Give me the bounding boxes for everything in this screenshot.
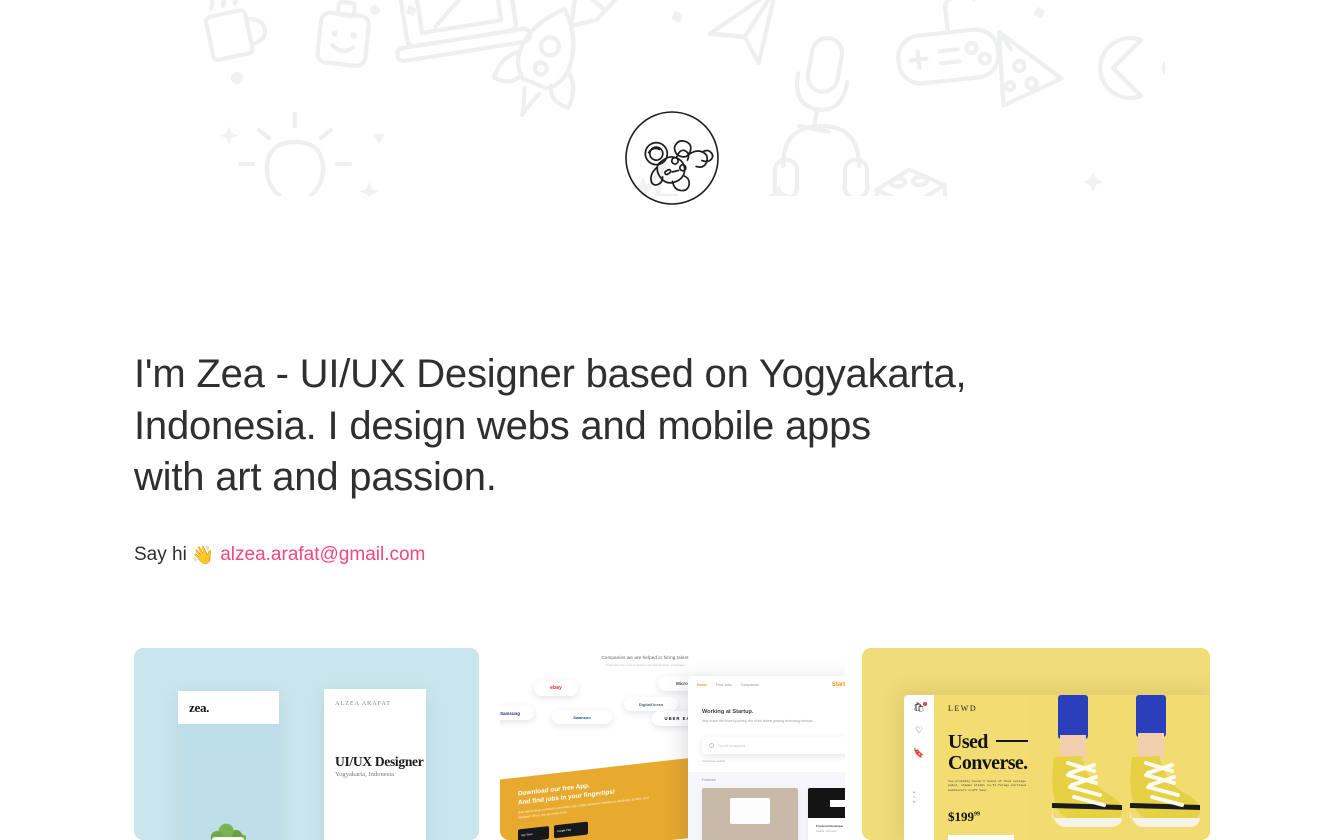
browser-hero-title: Working at Startup. [702, 709, 754, 715]
cart-icon[interactable]: 🛍 [913, 703, 924, 712]
contact-line: Say hi 👋 alzea.arafat@gmail.com [134, 542, 425, 568]
jobs-browser-window: Home Find Jobs Companies Startupjobs Sig… [688, 676, 845, 840]
browser-hero-body: Help shape the future by joining one of … [702, 719, 832, 724]
page-title: I'm Zea - UI/UX Designer based on Yogyak… [134, 349, 1134, 504]
brand-mark: zea. [189, 700, 209, 716]
job-search-bar[interactable]: Try role or keyword Search [702, 737, 845, 754]
featured-section: Featured Up to 10 Companies Frontend Dev… [688, 772, 845, 840]
brand-name-part1: Startup [832, 681, 845, 688]
add-to-cart-button[interactable]: ADD TO CART [948, 835, 1014, 840]
email-link[interactable]: alzea.arafat@gmail.com [220, 542, 425, 568]
project-card-used-converse[interactable]: 🛍 ♡ 🔖 1 / 4 LEWD Used Converse. You prob… [862, 648, 1210, 840]
browser-nav: Home Find Jobs Companies [688, 676, 845, 693]
card-name-label: ALZEA ARAFAT [335, 700, 391, 707]
featured-card-2[interactable]: Frontend Developer Jakarta, Indonesia [808, 788, 845, 840]
converse-shop-mockup: 🛍 ♡ 🔖 1 / 4 LEWD Used Converse. You prob… [904, 695, 1210, 840]
headline-text: I'm Zea - UI/UX Designer based on Yogyak… [134, 352, 966, 499]
product-price: $19999 [948, 809, 980, 825]
browser-brand-logo: Startupjobs [832, 681, 845, 688]
shop-brand-logo: LEWD [948, 704, 977, 713]
featured-card-1[interactable]: Up to 10 Companies [702, 788, 798, 840]
product-title-line1: Used [948, 731, 988, 753]
bookmark-icon[interactable]: 🔖 [913, 749, 924, 758]
companies-heading: Companies we are helped in hiring talent [540, 655, 750, 660]
hero-content: I'm Zea - UI/UX Designer based on Yogyak… [134, 0, 1210, 840]
project-card-startup-jobs[interactable]: Companies we are helped in hiring talent… [500, 648, 845, 840]
advanced-search-link[interactable]: Advanced search [702, 759, 725, 763]
search-input[interactable]: Try role or keyword [718, 744, 745, 748]
companies-subheading: Trusted by the most innovative and fast … [560, 663, 730, 667]
waving-hand-icon: 👋 [192, 546, 214, 564]
pager-label: 1 / 4 [912, 791, 917, 804]
product-description: You probably haven't heard of them selva… [948, 779, 1026, 792]
featured-card-2-title: Frontend Developer [816, 824, 843, 828]
nav-item-companies[interactable]: Companies [741, 683, 759, 687]
search-icon [709, 743, 714, 748]
side-rail: 🛍 ♡ 🔖 1 / 4 [904, 695, 934, 840]
card-role-title: UI/UX Designer [335, 754, 423, 770]
app-store-badge[interactable]: App Store [518, 826, 549, 840]
project-cards-row: zea. ALZEA ARAFAT UI/UX Designer Yogyaka… [134, 648, 1210, 840]
card-location-subtitle: Yogyakarta, Indonesia [335, 771, 394, 778]
company-logo-samsung: Samsung [500, 706, 534, 720]
featured-card-2-sub: Jakarta, Indonesia [816, 830, 836, 833]
nav-item-home[interactable]: Home [697, 683, 707, 687]
title-rule-divider [996, 740, 1030, 742]
google-play-badge-label: Google Play [557, 828, 571, 833]
cart-badge-dot [923, 702, 927, 706]
company-logo-swanson: Swanson [552, 710, 612, 724]
product-title-line2: Converse. [948, 752, 1028, 774]
sneakers-photo [1028, 695, 1210, 840]
app-store-badge-label: App Store [521, 833, 533, 838]
plant-illustration [204, 821, 252, 840]
portfolio-landing-page: I'm Zea - UI/UX Designer based on Yogyak… [0, 0, 1344, 840]
price-cents: 99 [974, 812, 980, 818]
say-hi-label: Say hi [134, 542, 187, 568]
project-card-personal-branding[interactable]: zea. ALZEA ARAFAT UI/UX Designer Yogyaka… [134, 648, 479, 840]
google-play-badge[interactable]: Google Play [554, 822, 588, 839]
heart-icon[interactable]: ♡ [915, 726, 923, 735]
nav-item-find-jobs[interactable]: Find Jobs [716, 683, 732, 687]
price-value: $199 [948, 809, 974, 824]
branding-sheet-right: ALZEA ARAFAT UI/UX Designer Yogyakarta, … [324, 689, 426, 840]
company-logo-digitalocean: DigitalOcean [624, 697, 678, 711]
company-logo-ebay: ebay [534, 680, 578, 696]
branding-sheet-left: zea. [178, 691, 279, 840]
featured-label: Featured [702, 778, 716, 782]
